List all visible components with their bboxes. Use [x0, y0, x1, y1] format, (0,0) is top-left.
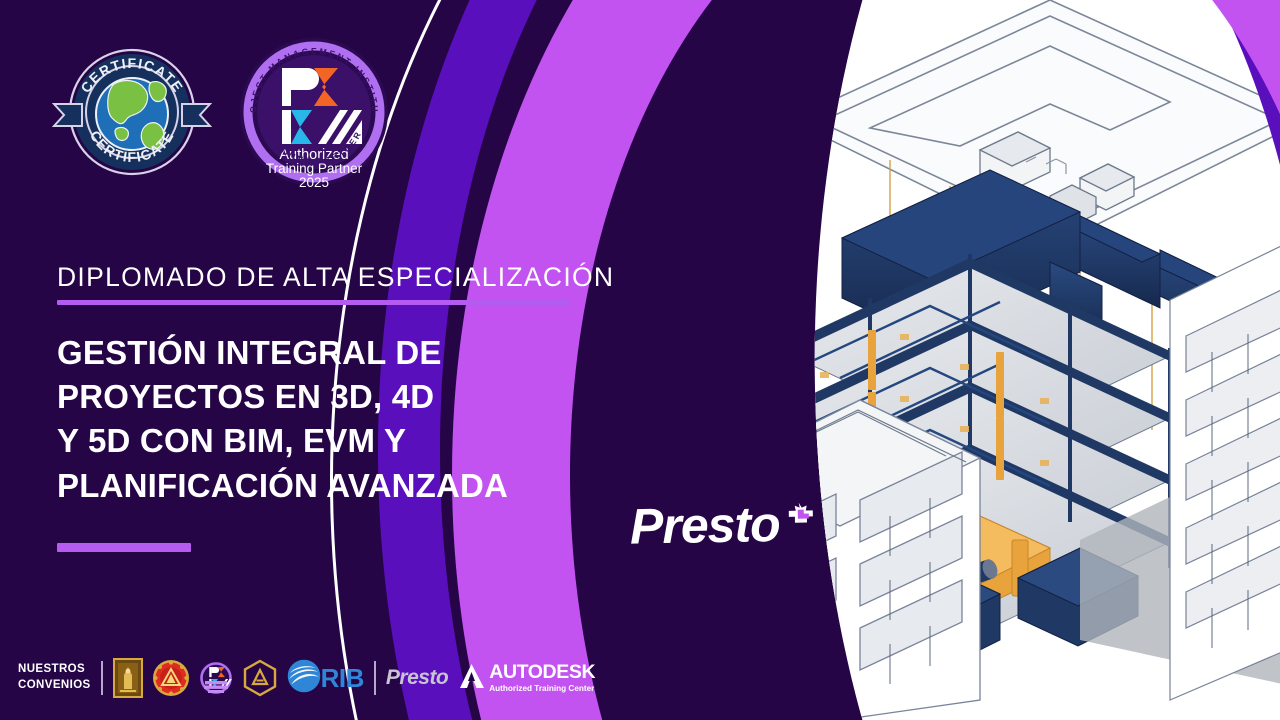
title-bottom-accent-rule [57, 543, 191, 552]
title-line-2: PROYECTOS EN 3D, 4D [57, 375, 657, 419]
headline-block: DIPLOMADO DE ALTA ESPECIALIZACIÓN GESTIÓ… [57, 262, 657, 508]
title-line-4: PLANIFICACIÓN AVANZADA [57, 464, 657, 508]
certificate-seal: CERTIFICATE CERTIFICATE [52, 32, 212, 192]
footer-divider-2 [374, 661, 376, 695]
partners-label-line-2: CONVENIOS [18, 678, 91, 694]
kicker-text: DIPLOMADO DE ALTA ESPECIALIZACIÓN [57, 262, 657, 293]
promo-banner: CERTIFICATE CERTIFICATE [0, 0, 1280, 720]
accreditation-badges: CERTIFICATE CERTIFICATE [52, 32, 394, 192]
pmi-line-year: 2025 [299, 175, 329, 190]
presto-wordmark-text: Presto [630, 499, 780, 552]
footer-divider-1 [101, 661, 103, 695]
title-line-1: GESTIÓN INTEGRAL DE [57, 331, 657, 375]
partners-label-line-1: NUESTROS [18, 662, 91, 678]
rib-text: RIB [321, 663, 364, 694]
kicker-underline [57, 300, 570, 305]
pmi-authorized-training-partner-seal: Authorized Training Partner 2025 PROJECT… [234, 32, 394, 192]
partner-logo-row: RIB [113, 658, 364, 698]
autodesk-name: AUTODESK [489, 663, 595, 683]
presto-star-icon [782, 500, 817, 540]
title-line-3: Y 5D CON BIM, EVM Y [57, 419, 657, 463]
hexagon-a-logo [242, 658, 278, 698]
rib-sphere-icon [287, 659, 321, 698]
pmi-atp-small-logo [199, 658, 233, 698]
partners-label: NUESTROS CONVENIOS [18, 662, 91, 693]
autodesk-a-icon [458, 663, 486, 694]
autodesk-logo: AUTODESK Authorized Training Center [458, 663, 595, 694]
presto-wordmark-overlay: Presto [630, 498, 817, 551]
autodesk-subtitle: Authorized Training Center [489, 685, 595, 693]
engineering-college-logo [152, 658, 190, 698]
partners-footer: NUESTROS CONVENIOS [0, 636, 600, 720]
presto-footer-text: Presto [386, 666, 448, 690]
university-emblem-logo [113, 658, 143, 698]
rib-logo: RIB [287, 658, 364, 698]
page-title: GESTIÓN INTEGRAL DE PROYECTOS EN 3D, 4D … [57, 331, 657, 508]
